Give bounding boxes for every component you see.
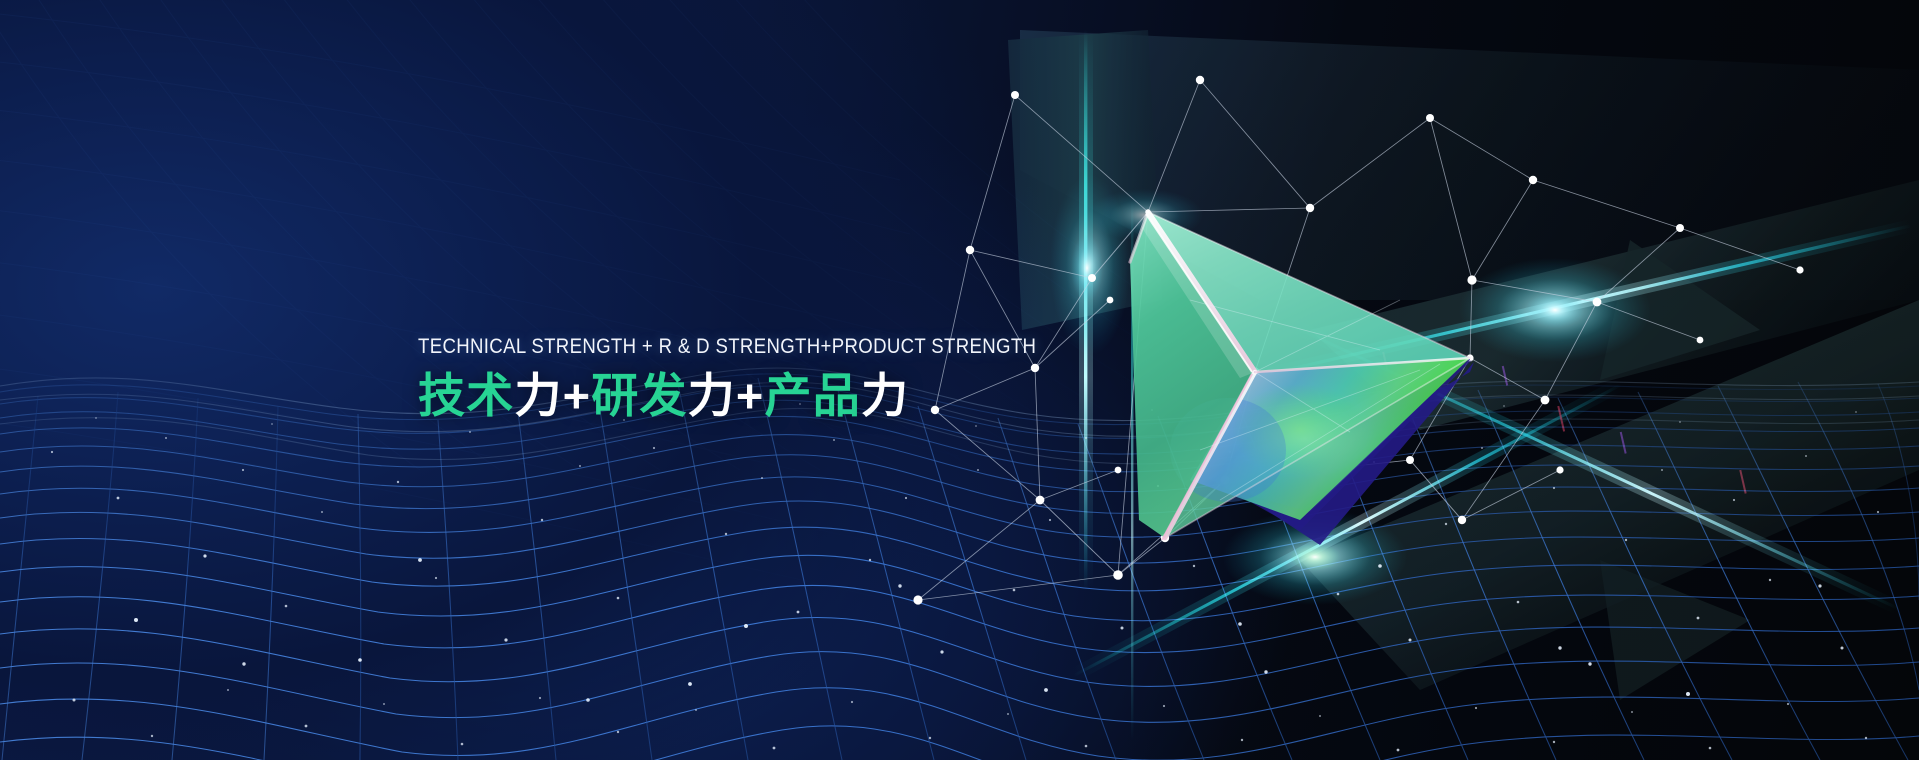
title-segment-2: 力 <box>514 369 562 422</box>
title-segment-3: + <box>563 369 592 422</box>
title-segment-8: 力 <box>861 369 909 422</box>
title-segment-7: 产品 <box>765 369 861 422</box>
headline-block: TECHNICAL STRENGTH + R & D STRENGTH+PROD… <box>418 336 1038 421</box>
page-title: 技术力+研发力+产品力 <box>418 371 1038 421</box>
title-segment-4: 研发 <box>591 369 687 422</box>
title-segment-5: 力 <box>688 369 736 422</box>
title-segment-6: + <box>736 369 765 422</box>
hero-banner: TECHNICAL STRENGTH + R & D STRENGTH+PROD… <box>0 0 1919 760</box>
eyebrow-text: TECHNICAL STRENGTH + R & D STRENGTH+PROD… <box>418 336 954 358</box>
title-segment-1: 技术 <box>418 369 514 422</box>
